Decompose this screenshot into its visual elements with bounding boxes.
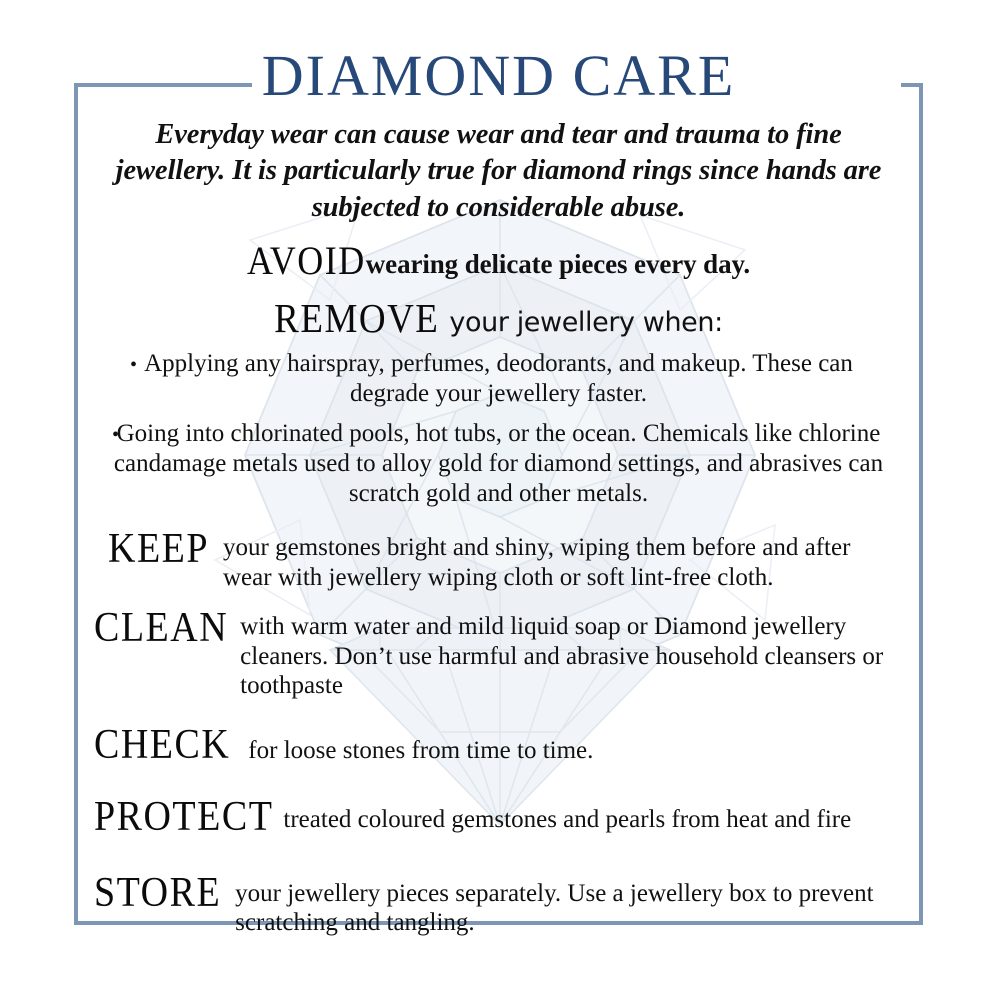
section-remove: REMOVEyour jewellery when: (94, 300, 903, 343)
section-protect: PROTECT treated coloured gemstones and p… (94, 795, 903, 841)
check-text: for loose stones from time to time. (248, 726, 903, 766)
keyword-avoid: AVOID (247, 237, 366, 284)
keyword-keep-cell: KEEP (108, 527, 209, 573)
diamond-care-card: DIAMOND CARE Everyday wear can cause wea… (74, 83, 923, 925)
section-clean: CLEAN with warm water and mild liquid so… (94, 606, 903, 701)
keyword-clean: CLEAN (94, 603, 228, 652)
section-store: STORE your jewellery pieces separately. … (94, 871, 903, 938)
list-item-text: Applying any hairspray, perfumes, deodor… (144, 350, 853, 407)
keyword-remove: REMOVE (274, 295, 439, 343)
avoid-text: wearing delicate pieces every day. (366, 249, 750, 279)
keyword-keep: KEEP (108, 524, 209, 573)
remove-text: your jewellery when: (449, 307, 722, 338)
list-item-text: Going into chlorinated pools, hot tubs, … (114, 420, 883, 507)
keep-text: your gemstones bright and shiny, wiping … (223, 527, 903, 592)
keyword-clean-cell: CLEAN (94, 606, 228, 652)
protect-text: treated coloured gemstones and pearls fr… (283, 795, 903, 835)
keyword-protect: PROTECT (94, 792, 273, 841)
section-avoid: AVOIDwearing delicate pieces every day. (94, 242, 903, 284)
store-text: your jewellery pieces separately. Use a … (235, 871, 903, 938)
keyword-check: CHECK (94, 720, 230, 769)
keyword-store: STORE (94, 868, 221, 917)
remove-bullet-list: • Applying any hairspray, perfumes, deod… (94, 349, 903, 509)
section-check: CHECK for loose stones from time to time… (94, 723, 903, 769)
keyword-check-cell: CHECK (94, 723, 230, 769)
clean-text: with warm water and mild liquid soap or … (240, 606, 903, 701)
keyword-store-cell: STORE (94, 871, 221, 917)
card-content: Everyday wear can cause wear and tear an… (78, 87, 919, 921)
section-keep: KEEP your gemstones bright and shiny, wi… (94, 527, 903, 592)
keyword-protect-cell: PROTECT (94, 795, 273, 841)
frame-right-border (919, 83, 923, 925)
bullet-icon: • (112, 425, 119, 445)
intro-paragraph: Everyday wear can cause wear and tear an… (112, 117, 885, 226)
list-item: • Going into chlorinated pools, hot tubs… (94, 419, 903, 509)
bullet-icon: • (130, 355, 137, 375)
list-item: • Applying any hairspray, perfumes, deod… (94, 349, 903, 409)
